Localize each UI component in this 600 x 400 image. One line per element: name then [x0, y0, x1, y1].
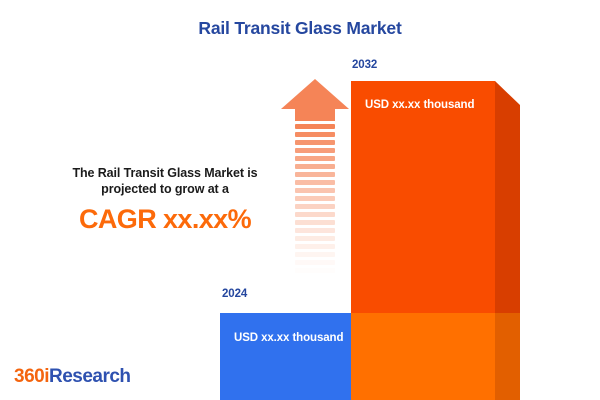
page-title: Rail Transit Glass Market: [0, 18, 600, 39]
market-infographic: Rail Transit Glass Market The Rail Trans…: [0, 0, 600, 400]
bar-label-2032: 2032: [352, 59, 377, 71]
brand-logo-suffix: Research: [49, 366, 131, 387]
arrow-stripe: [295, 180, 335, 185]
arrow-neck-icon: [295, 109, 335, 121]
arrow-head-icon: [281, 79, 349, 109]
arrow-stripe: [295, 260, 335, 265]
arrow-stripe: [295, 268, 335, 273]
arrow-stripe: [295, 156, 335, 161]
arrow-stripe: [295, 188, 335, 193]
bar-2032-side-face-lower: [495, 313, 520, 400]
arrow-stripe: [295, 204, 335, 209]
arrow-stripe: [295, 148, 335, 153]
bar-2024-value: USD xx.xx thousand: [234, 332, 343, 344]
arrow-stripe: [295, 236, 335, 241]
arrow-stripes: [295, 124, 335, 284]
arrow-stripe: [295, 212, 335, 217]
arrow-stripe: [295, 132, 335, 137]
arrow-stripe: [295, 140, 335, 145]
arrow-stripe: [295, 228, 335, 233]
bar-2024: USD xx.xx thousand: [220, 313, 370, 400]
arrow-stripe: [295, 244, 335, 249]
growth-statement: The Rail Transit Glass Market is project…: [40, 165, 290, 235]
brand-logo[interactable]: 360iResearch: [14, 366, 131, 388]
bar-label-2024: 2024: [222, 288, 247, 300]
growth-statement-line-2: projected to grow at a: [40, 181, 290, 197]
cagr-value: CAGR xx.xx%: [40, 203, 290, 235]
bar-2032-front-face: USD xx.xx thousand: [351, 81, 495, 313]
bar-2032-value: USD xx.xx thousand: [365, 99, 474, 111]
arrow-stripe: [295, 276, 335, 281]
bar-2032-front-face-lower: [351, 313, 495, 400]
brand-logo-prefix: 360i: [14, 366, 49, 387]
arrow-stripe: [295, 252, 335, 257]
growth-arrow-icon: [281, 79, 349, 284]
arrow-stripe: [295, 124, 335, 129]
arrow-stripe: [295, 164, 335, 169]
growth-statement-line-1: The Rail Transit Glass Market is: [40, 165, 290, 181]
bar-2032: USD xx.xx thousand: [351, 81, 495, 400]
arrow-stripe: [295, 220, 335, 225]
arrow-stripe: [295, 196, 335, 201]
bar-2024-front-face: USD xx.xx thousand: [220, 313, 370, 400]
arrow-stripe: [295, 172, 335, 177]
